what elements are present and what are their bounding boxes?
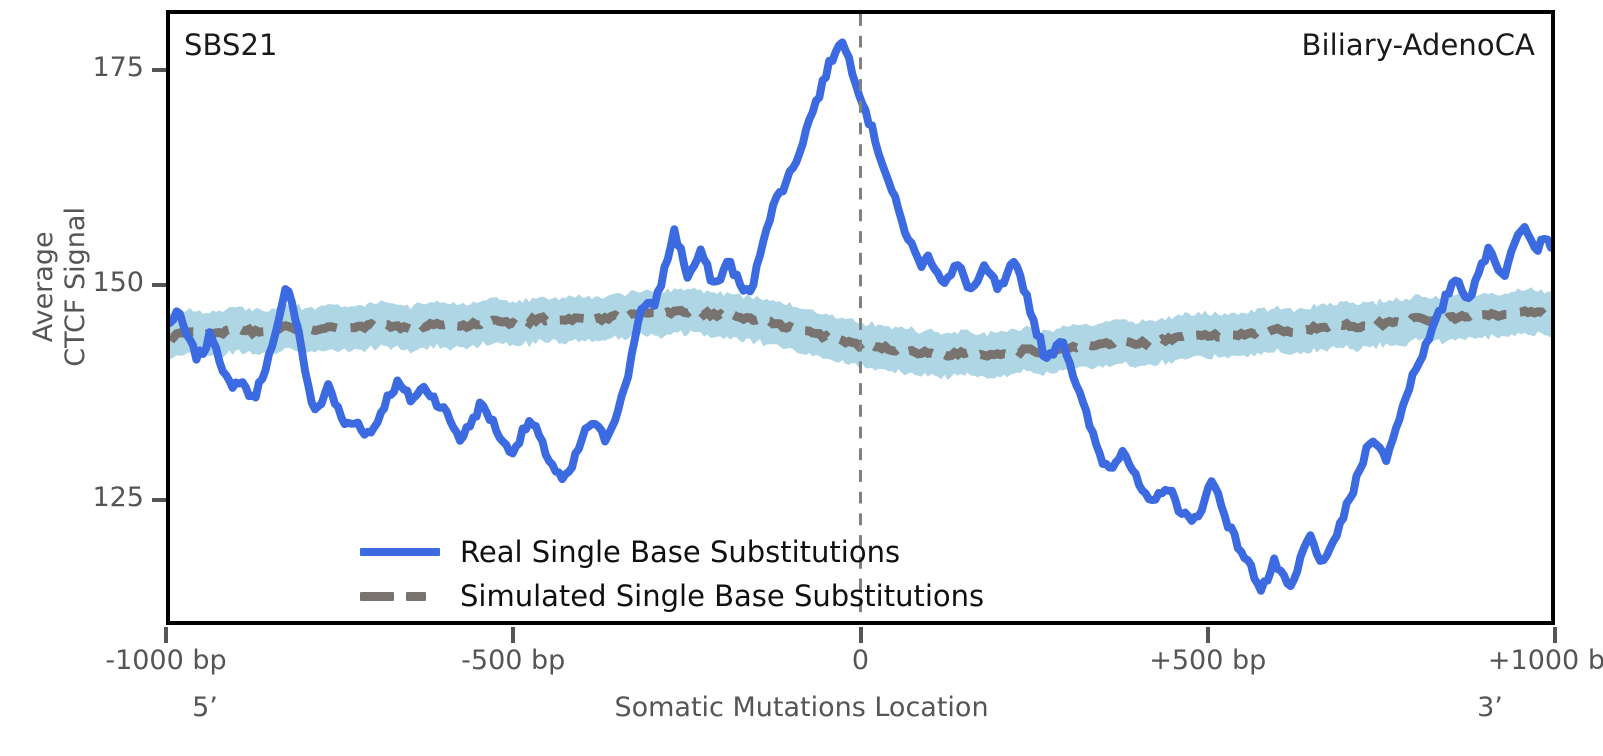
- y-axis-title: Average CTCF Signal: [28, 187, 92, 387]
- plot-area: SBS21 Biliary-AdenoCA Real Single Base S…: [166, 10, 1555, 625]
- three-prime-label: 3’: [1477, 692, 1503, 723]
- x-tick-label: +500 bp: [1149, 645, 1266, 676]
- legend-item-real: Real Single Base Substitutions: [356, 530, 996, 574]
- x-tick-label: +1000 bp: [1488, 645, 1603, 676]
- ctcf-signal-figure: SBS21 Biliary-AdenoCA Real Single Base S…: [0, 0, 1603, 756]
- x-tick-mark: [511, 627, 515, 643]
- x-tick-mark: [1553, 627, 1557, 643]
- y-tick-label: 125: [92, 482, 144, 513]
- y-axis-title-line1: Average: [28, 187, 60, 387]
- x-tick-label: 0: [852, 645, 869, 676]
- signature-label: SBS21: [184, 28, 278, 62]
- y-axis-title-line2: CTCF Signal: [60, 187, 92, 387]
- legend-swatch-dashed-line-icon: [356, 581, 444, 611]
- x-tick-mark: [1206, 627, 1210, 643]
- legend-swatch-solid-line-icon: [356, 537, 444, 567]
- y-tick-label: 175: [92, 52, 144, 83]
- y-tick-mark: [152, 283, 166, 287]
- legend-item-simulated: Simulated Single Base Substitutions: [356, 574, 996, 618]
- x-tick-label: -500 bp: [461, 645, 565, 676]
- x-tick-mark: [859, 627, 863, 643]
- x-axis-title: Somatic Mutations Location: [0, 692, 1603, 723]
- five-prime-label: 5’: [192, 692, 218, 723]
- cancer-type-label: Biliary-AdenoCA: [1301, 28, 1535, 62]
- y-tick-mark: [152, 498, 166, 502]
- y-tick-mark: [152, 68, 166, 72]
- x-tick-mark: [164, 627, 168, 643]
- legend-label-simulated: Simulated Single Base Substitutions: [460, 579, 984, 613]
- legend: Real Single Base Substitutions Simulated…: [356, 530, 996, 618]
- y-tick-label: 150: [92, 267, 144, 298]
- legend-label-real: Real Single Base Substitutions: [460, 535, 900, 569]
- x-tick-label: -1000 bp: [105, 645, 226, 676]
